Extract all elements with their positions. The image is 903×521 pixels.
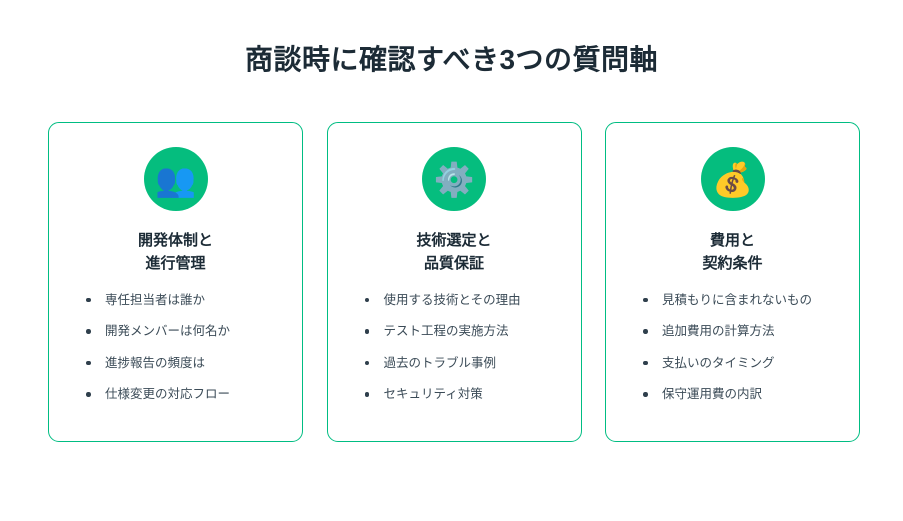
card-cost-contract: 💰 費用と 契約条件 見積もりに含まれないもの 追加費用の計算方法 支払いのタイ… — [605, 122, 860, 442]
card-bullet-list: 使用する技術とその理由 テスト工程の実施方法 過去のトラブル事例 セキュリティ対… — [342, 292, 567, 404]
list-item: 仕様変更の対応フロー — [83, 386, 288, 404]
list-item-label: テスト工程の実施方法 — [384, 324, 509, 338]
list-item-label: 過去のトラブル事例 — [384, 356, 497, 370]
bullet-dot-icon — [365, 298, 370, 303]
card-heading: 開発体制と 進行管理 — [138, 229, 213, 276]
list-item: 見積もりに含まれないもの — [640, 292, 845, 310]
bullet-dot-icon — [643, 361, 648, 366]
gear-icon: ⚙️ — [433, 163, 474, 196]
card-development-structure: 👥 開発体制と 進行管理 専任担当者は誰か 開発メンバーは何名か 進捗報告の頻度… — [48, 122, 303, 442]
list-item-label: 保守運用費の内訳 — [662, 387, 762, 401]
bullet-dot-icon — [365, 329, 370, 334]
bullet-dot-icon — [643, 329, 648, 334]
list-item: 使用する技術とその理由 — [362, 292, 567, 310]
card-bullet-list: 見積もりに含まれないもの 追加費用の計算方法 支払いのタイミング 保守運用費の内… — [620, 292, 845, 404]
card-icon-badge: 👥 — [144, 147, 208, 211]
card-icon-badge: 💰 — [701, 147, 765, 211]
card-icon-badge: ⚙️ — [422, 147, 486, 211]
list-item: 開発メンバーは何名か — [83, 323, 288, 341]
list-item: テスト工程の実施方法 — [362, 323, 567, 341]
list-item-label: 見積もりに含まれないもの — [662, 293, 812, 307]
card-heading: 技術選定と 品質保証 — [416, 229, 491, 276]
card-bullet-list: 専任担当者は誰か 開発メンバーは何名か 進捗報告の頻度は 仕様変更の対応フロー — [63, 292, 288, 404]
list-item-label: 専任担当者は誰か — [105, 293, 205, 307]
bullet-dot-icon — [86, 392, 91, 397]
bullet-dot-icon — [643, 298, 648, 303]
list-item: 進捗報告の頻度は — [83, 355, 288, 373]
money-bag-icon: 💰 — [712, 163, 753, 196]
bullet-dot-icon — [643, 392, 648, 397]
list-item-label: 使用する技術とその理由 — [384, 293, 521, 307]
slide-root: 商談時に確認すべき3つの質問軸 👥 開発体制と 進行管理 専任担当者は誰か 開発… — [0, 0, 903, 521]
page-title: 商談時に確認すべき3つの質問軸 — [0, 42, 903, 77]
list-item: セキュリティ対策 — [362, 386, 567, 404]
list-item-label: セキュリティ対策 — [384, 387, 483, 401]
list-item-label: 追加費用の計算方法 — [662, 324, 775, 338]
list-item: 保守運用費の内訳 — [640, 386, 845, 404]
card-technology-quality: ⚙️ 技術選定と 品質保証 使用する技術とその理由 テスト工程の実施方法 過去の… — [327, 122, 582, 442]
list-item: 追加費用の計算方法 — [640, 323, 845, 341]
bullet-dot-icon — [365, 392, 370, 397]
list-item: 専任担当者は誰か — [83, 292, 288, 310]
list-item-label: 進捗報告の頻度は — [105, 356, 205, 370]
list-item: 過去のトラブル事例 — [362, 355, 567, 373]
bullet-dot-icon — [365, 361, 370, 366]
bullet-dot-icon — [86, 329, 91, 334]
bullet-dot-icon — [86, 298, 91, 303]
busts-in-silhouette-icon: 👥 — [155, 163, 196, 196]
list-item: 支払いのタイミング — [640, 355, 845, 373]
list-item-label: 開発メンバーは何名か — [105, 324, 230, 338]
card-heading: 費用と 契約条件 — [702, 229, 762, 276]
list-item-label: 仕様変更の対応フロー — [105, 387, 230, 401]
bullet-dot-icon — [86, 361, 91, 366]
card-grid: 👥 開発体制と 進行管理 専任担当者は誰か 開発メンバーは何名か 進捗報告の頻度… — [48, 122, 860, 442]
list-item-label: 支払いのタイミング — [662, 356, 775, 370]
